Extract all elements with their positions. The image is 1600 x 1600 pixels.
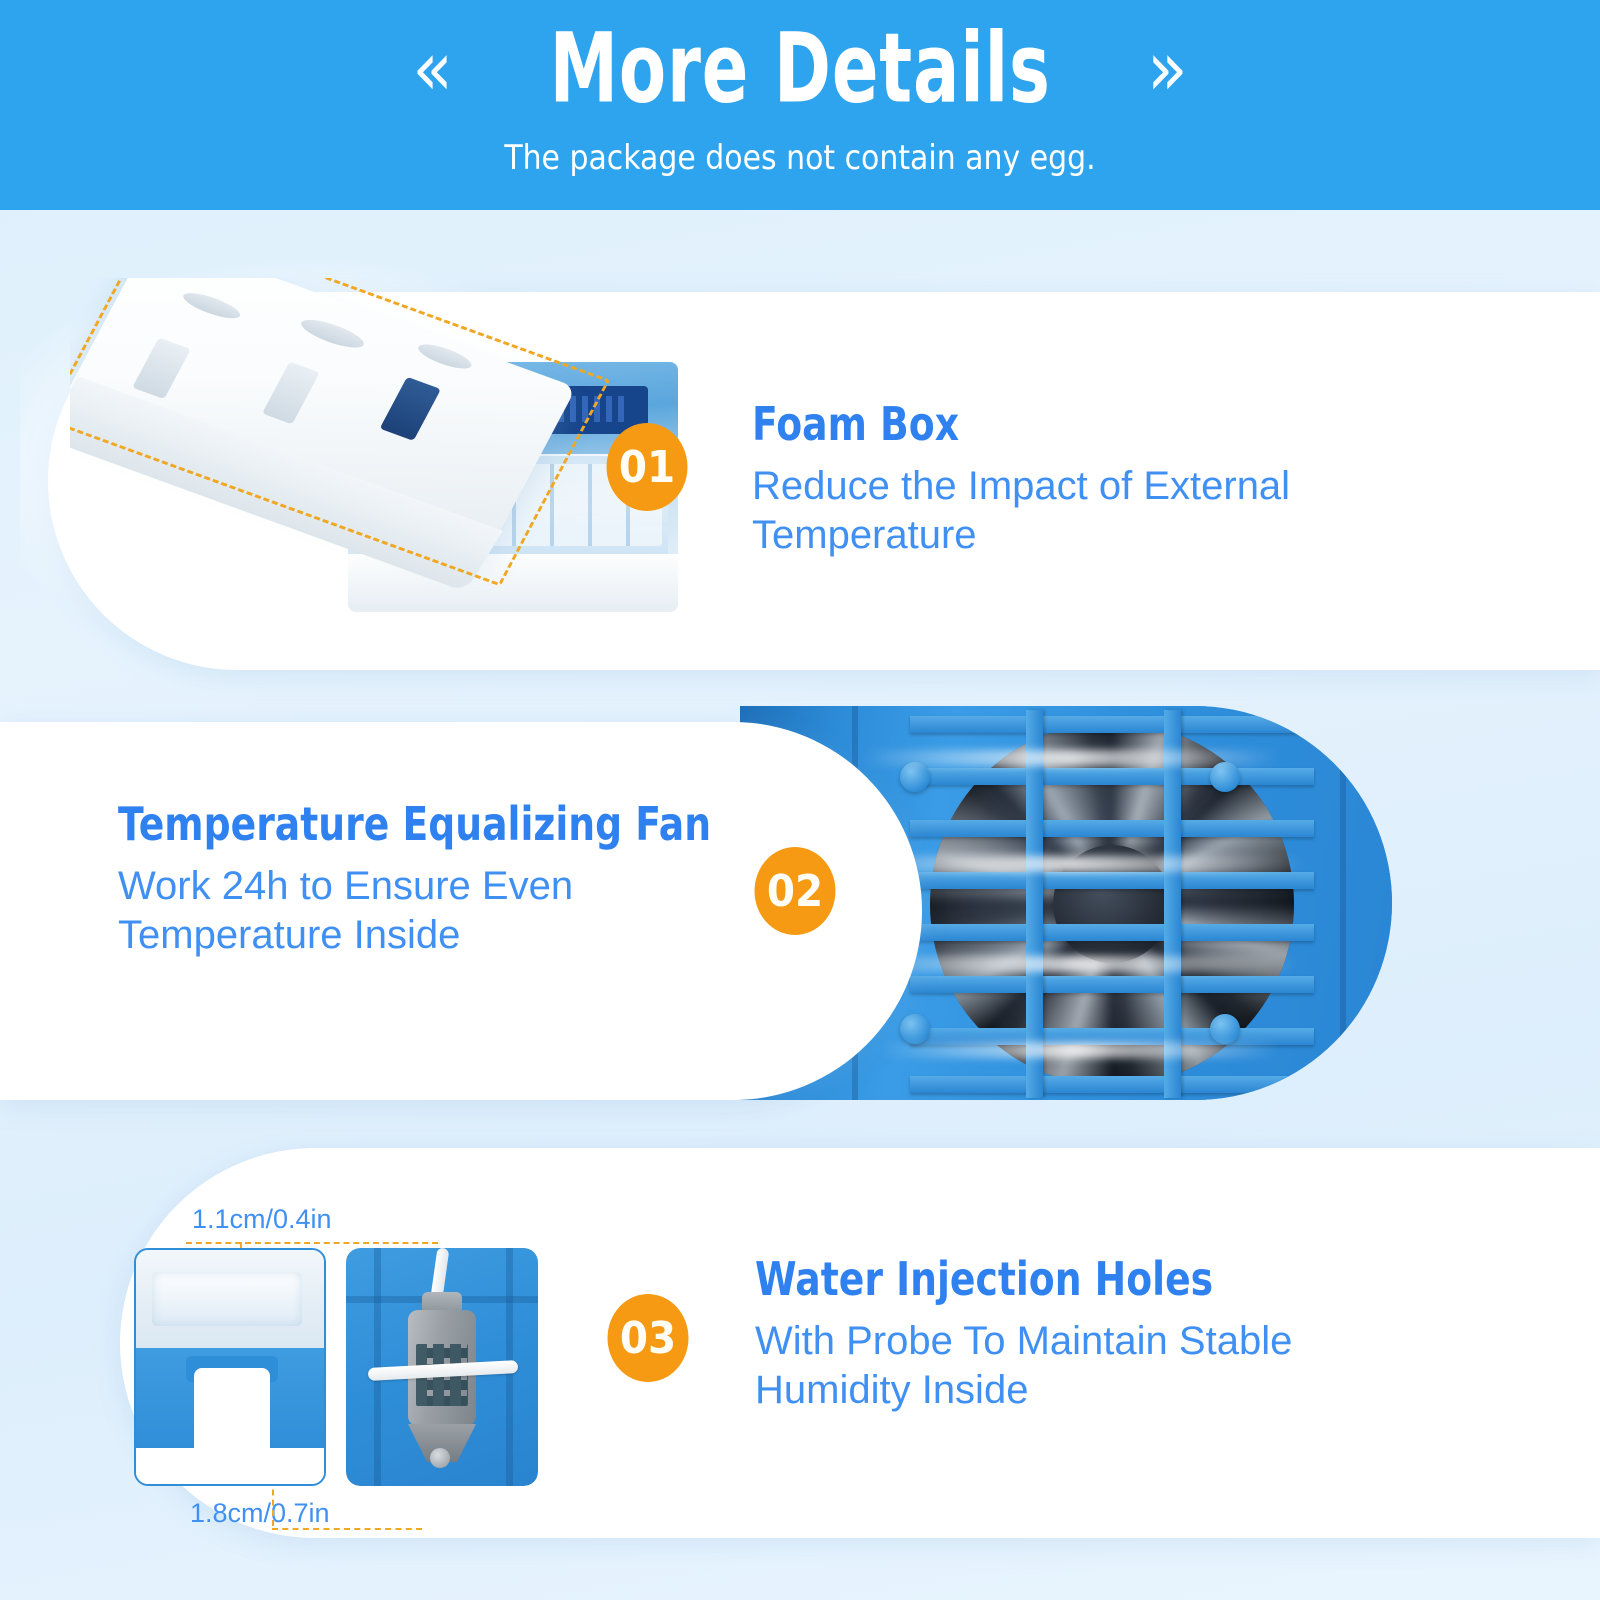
airflow-streak-3: [850, 956, 1300, 972]
page-title: More Details: [549, 21, 1050, 117]
dimension-guide-bottom: [272, 1528, 422, 1530]
page-header: « More Details » The package does not co…: [0, 0, 1600, 210]
section-title-01: Foam Box: [752, 400, 1310, 448]
title-row: « More Details »: [412, 26, 1187, 112]
dimension-guide-top: [186, 1242, 438, 1244]
fan-screw-boss-br: [1210, 1014, 1240, 1044]
double-chevron-right-icon: »: [1147, 31, 1187, 107]
double-chevron-left-icon: «: [412, 31, 452, 107]
probe-cable: [431, 1248, 450, 1299]
water-injection-image: 1.1cm/0.4in 1.8cm/0.7in: [128, 1160, 558, 1542]
section-description-03: With Probe To Maintain Stable Humidity I…: [755, 1317, 1435, 1415]
airflow-streak-4: [880, 1042, 1280, 1058]
airflow-streak-1: [860, 750, 1280, 766]
section-badge-03: 03: [608, 1294, 689, 1382]
section-text-01: Foam Box Reduce the Impact of External T…: [752, 400, 1432, 560]
fan-screw-boss-bl: [900, 1014, 930, 1044]
water-tank-clear-lid: [136, 1250, 324, 1348]
section-text-03: Water Injection Holes With Probe To Main…: [755, 1255, 1435, 1415]
product-detail-page: « More Details » The package does not co…: [0, 0, 1600, 1600]
probe-mount-background: [346, 1248, 538, 1486]
section-description-01: Reduce the Impact of External Temperatur…: [752, 462, 1432, 560]
section-description-02: Work 24h to Ensure Even Temperature Insi…: [118, 862, 678, 960]
section-text-02: Temperature Equalizing Fan Work 24h to E…: [118, 800, 841, 960]
section-badge-01: 01: [607, 423, 688, 511]
dimension-label-width: 1.1cm/0.4in: [192, 1204, 332, 1235]
incubator-blue-shell: [136, 1348, 324, 1452]
fan-screw-boss-tr: [1210, 762, 1240, 792]
section-title-03: Water Injection Holes: [755, 1255, 1313, 1303]
fan-screw-boss-tl: [900, 762, 930, 792]
photo-base-white: [136, 1448, 324, 1484]
section-badge-02: 02: [755, 847, 836, 935]
probe-screw: [430, 1448, 450, 1468]
page-subtitle: The package does not contain any egg.: [504, 138, 1095, 178]
foam-box-image: [70, 278, 690, 678]
dimension-label-height: 1.8cm/0.7in: [190, 1498, 330, 1529]
fan-housing-seam-right: [1340, 706, 1346, 1100]
humidity-probe-photo: [346, 1248, 538, 1486]
injection-hole-opening: [194, 1368, 270, 1452]
section-title-02: Temperature Equalizing Fan: [118, 800, 711, 848]
water-hole-photo: [134, 1248, 326, 1486]
